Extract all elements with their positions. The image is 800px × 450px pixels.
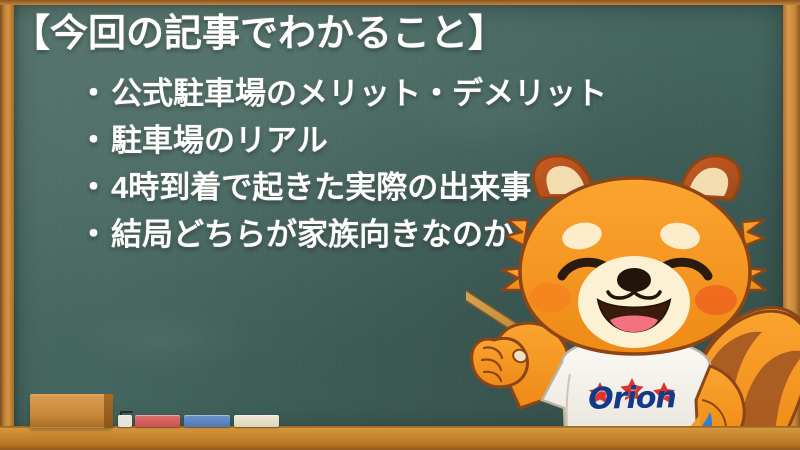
chalk-piece <box>184 415 230 427</box>
chalk-ledge <box>0 428 800 450</box>
list-item: ・ 公式駐車場のメリット・デメリット <box>78 68 578 115</box>
chalk-smudge <box>74 305 254 375</box>
chalk-holder-clip <box>120 406 134 415</box>
blush-left <box>529 283 571 313</box>
mascot-head <box>502 156 766 354</box>
blush-right <box>695 285 737 315</box>
blackboard-eraser <box>30 398 112 428</box>
bullet-marker-icon: ・ <box>78 68 109 113</box>
bullet-marker-icon: ・ <box>78 162 109 207</box>
chalk-piece <box>118 415 132 427</box>
bullet-marker-icon: ・ <box>78 115 109 160</box>
list-item-label: 結局どちらが家族向きなのか <box>111 209 514 254</box>
chalkboard-slide: 【今回の記事でわかること】 ・ 公式駐車場のメリット・デメリット ・ 駐車場のリ… <box>0 0 800 450</box>
list-item-label: 駐車場のリアル <box>111 115 328 160</box>
chalk-piece <box>135 415 180 427</box>
bullet-marker-icon: ・ <box>78 209 109 254</box>
frame-left-rail <box>0 0 14 450</box>
nose <box>617 268 651 292</box>
chalk-piece <box>234 415 279 427</box>
list-item-label: 公式駐車場のメリット・デメリット <box>111 68 607 113</box>
shirt-brand-label: Orion <box>562 380 703 417</box>
blackboard-eraser-side <box>104 394 113 428</box>
page-title: 【今回の記事でわかること】 <box>12 2 506 57</box>
